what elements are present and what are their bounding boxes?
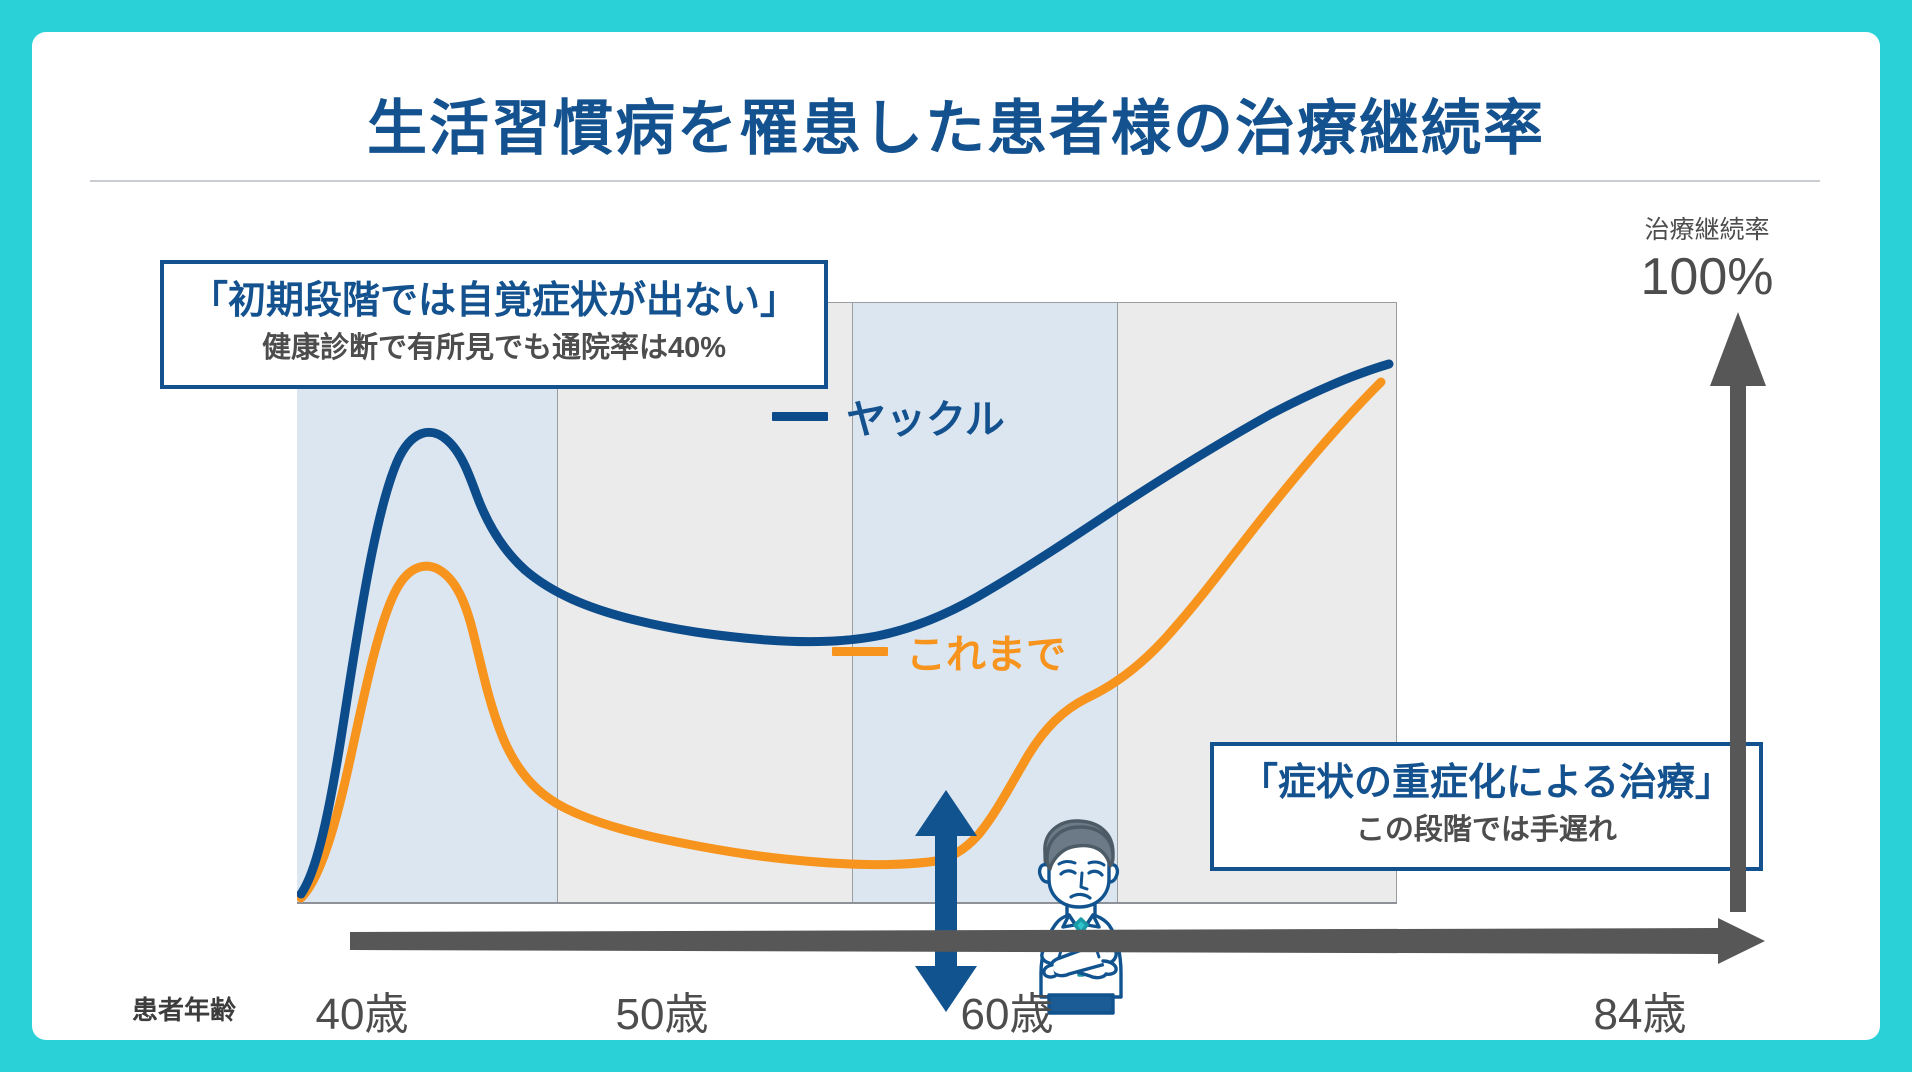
callout-early-stage-main: 「初期段階では自覚症状が出ない」 [190, 278, 798, 326]
legend-swatch-korekara [832, 647, 888, 656]
y-axis-max-value: 100% [1602, 247, 1812, 307]
callout-early-stage-sub: 健康診断で有所見でも通院率は40% [190, 330, 798, 368]
x-tick-40: 40歳 [262, 978, 462, 1042]
x-axis-label: 患者年齢 [132, 990, 236, 1027]
legend-item-korekara: これまで [832, 622, 1066, 680]
content-card: 生活習慣病を罹患した患者様の治療継続率 治療継続率 100% [32, 32, 1880, 1040]
x-tick-60: 60歳 [907, 978, 1107, 1042]
legend-label-yakkuru: ヤックル [846, 387, 1005, 445]
callout-late-stage-sub: この段階では手遅れ [1240, 812, 1733, 850]
arrow-up-icon [1710, 312, 1766, 912]
legend-item-yakkuru: ヤックル [772, 387, 1005, 445]
x-tick-50: 50歳 [562, 978, 762, 1042]
infographic-canvas: 生活習慣病を罹患した患者様の治療継続率 治療継続率 100% [0, 0, 1912, 1072]
callout-late-stage: 「症状の重症化による治療」 この段階では手遅れ [1210, 742, 1763, 871]
callout-early-stage: 「初期段階では自覚症状が出ない」 健康診断で有所見でも通院率は40% [160, 260, 828, 389]
x-tick-84: 84歳 [1540, 978, 1740, 1042]
title-divider [90, 180, 1820, 182]
legend-swatch-yakkuru [772, 412, 828, 421]
y-axis-label: 治療継続率 [1602, 210, 1812, 246]
page-title: 生活習慣病を罹患した患者様の治療継続率 [32, 80, 1880, 167]
callout-late-stage-main: 「症状の重症化による治療」 [1240, 760, 1733, 808]
arrow-right-icon [350, 918, 1765, 964]
legend-label-korekara: これまで [906, 622, 1066, 680]
